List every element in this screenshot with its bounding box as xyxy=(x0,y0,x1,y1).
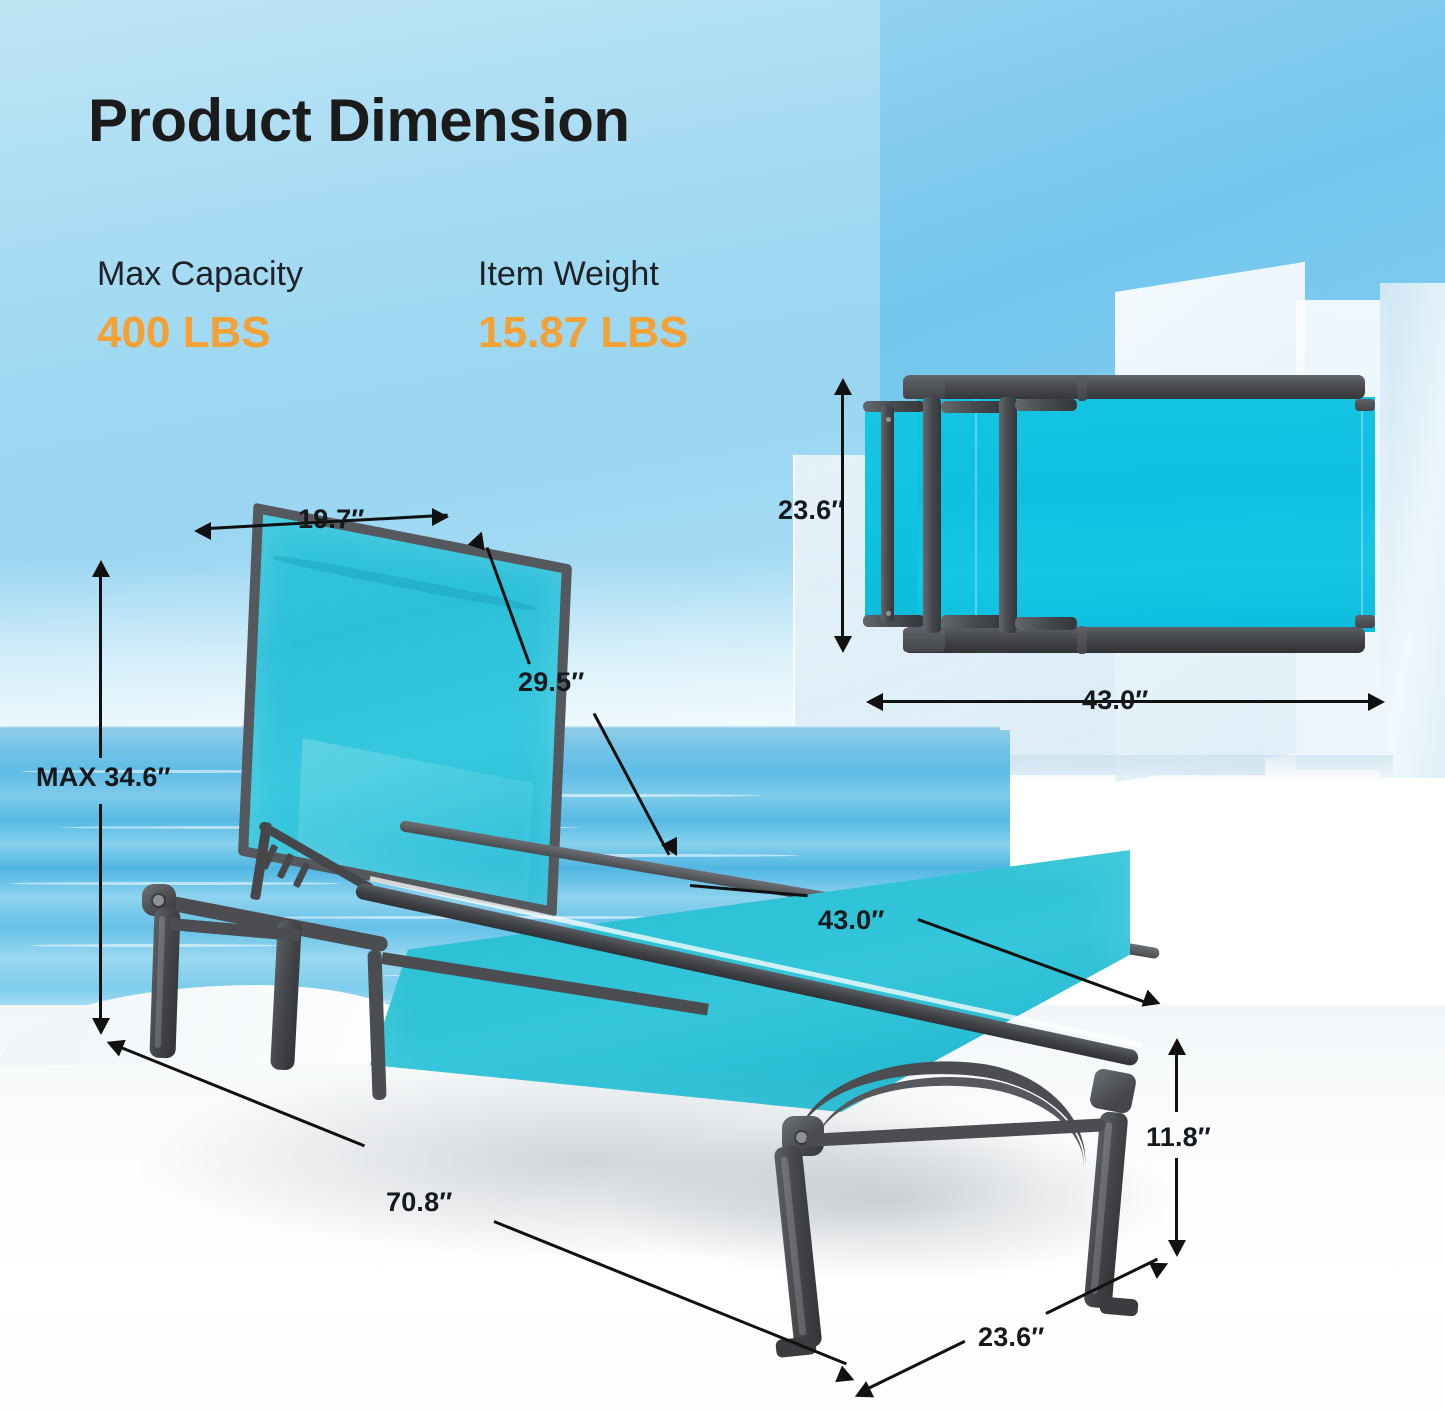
folded-tip-tr xyxy=(1355,399,1375,411)
folded-crossbar-top xyxy=(941,401,1007,413)
arrowhead-seat-height-bottom xyxy=(1168,1240,1186,1257)
folded-brace-top xyxy=(1015,399,1077,411)
arrowhead-backrest-width-right xyxy=(432,508,449,526)
arrowhead-max-height-bottom xyxy=(92,1018,110,1035)
poolside-wall-panel-c xyxy=(1380,283,1445,778)
reclined-chair-illustration xyxy=(70,520,1250,1320)
dimension-label-backrest-width: 19.7″ xyxy=(298,504,364,535)
dimension-label-backrest-height: 29.5″ xyxy=(518,667,584,698)
dimension-label-max-height: MAX 34.6″ xyxy=(36,762,171,793)
folded-arm-top xyxy=(863,401,925,412)
dimline-max-height-upper xyxy=(99,576,102,758)
spec-item-weight: Item Weight 15.87 LBS xyxy=(478,255,688,358)
footrest-end-cap xyxy=(1089,1067,1138,1114)
spec-value-item-weight: 15.87 LBS xyxy=(478,308,688,358)
spec-value-max-capacity: 400 LBS xyxy=(97,308,303,358)
arrowhead-backrest-width-left xyxy=(194,522,211,540)
page-title: Product Dimension xyxy=(88,86,630,155)
dimline-seat-height-upper xyxy=(1175,1052,1178,1112)
product-dimension-infographic: Product Dimension Max Capacity 400 LBS I… xyxy=(0,0,1445,1410)
front-foot-cap-right xyxy=(1099,1296,1138,1316)
dimension-label-seat-height: 11.8″ xyxy=(1146,1122,1211,1153)
dimline-max-height-lower xyxy=(99,804,102,1022)
folded-bracket-tl xyxy=(903,377,945,399)
arrowhead-folded-width-right xyxy=(1368,693,1385,711)
rear-leg-right xyxy=(270,919,302,1070)
rear-pivot-pin xyxy=(153,895,164,906)
spec-max-capacity: Max Capacity 400 LBS xyxy=(97,255,303,358)
folded-tip-br xyxy=(1355,615,1375,628)
folded-joint-top xyxy=(1077,375,1087,401)
dimension-label-seat-width: 43.0″ xyxy=(818,905,884,936)
dimension-label-overall-length: 70.8″ xyxy=(386,1187,452,1218)
spec-label-max-capacity: Max Capacity xyxy=(97,255,303,294)
arrowhead-folded-height-top xyxy=(834,378,852,395)
spec-label-item-weight: Item Weight xyxy=(478,255,688,294)
dimline-seat-height-lower xyxy=(1175,1158,1178,1244)
folded-frame-top-rail xyxy=(903,375,1365,399)
arrowhead-max-height-top xyxy=(92,560,110,577)
arrowhead-seat-height-top xyxy=(1168,1038,1186,1055)
dimension-label-foot-depth: 23.6″ xyxy=(978,1322,1044,1353)
